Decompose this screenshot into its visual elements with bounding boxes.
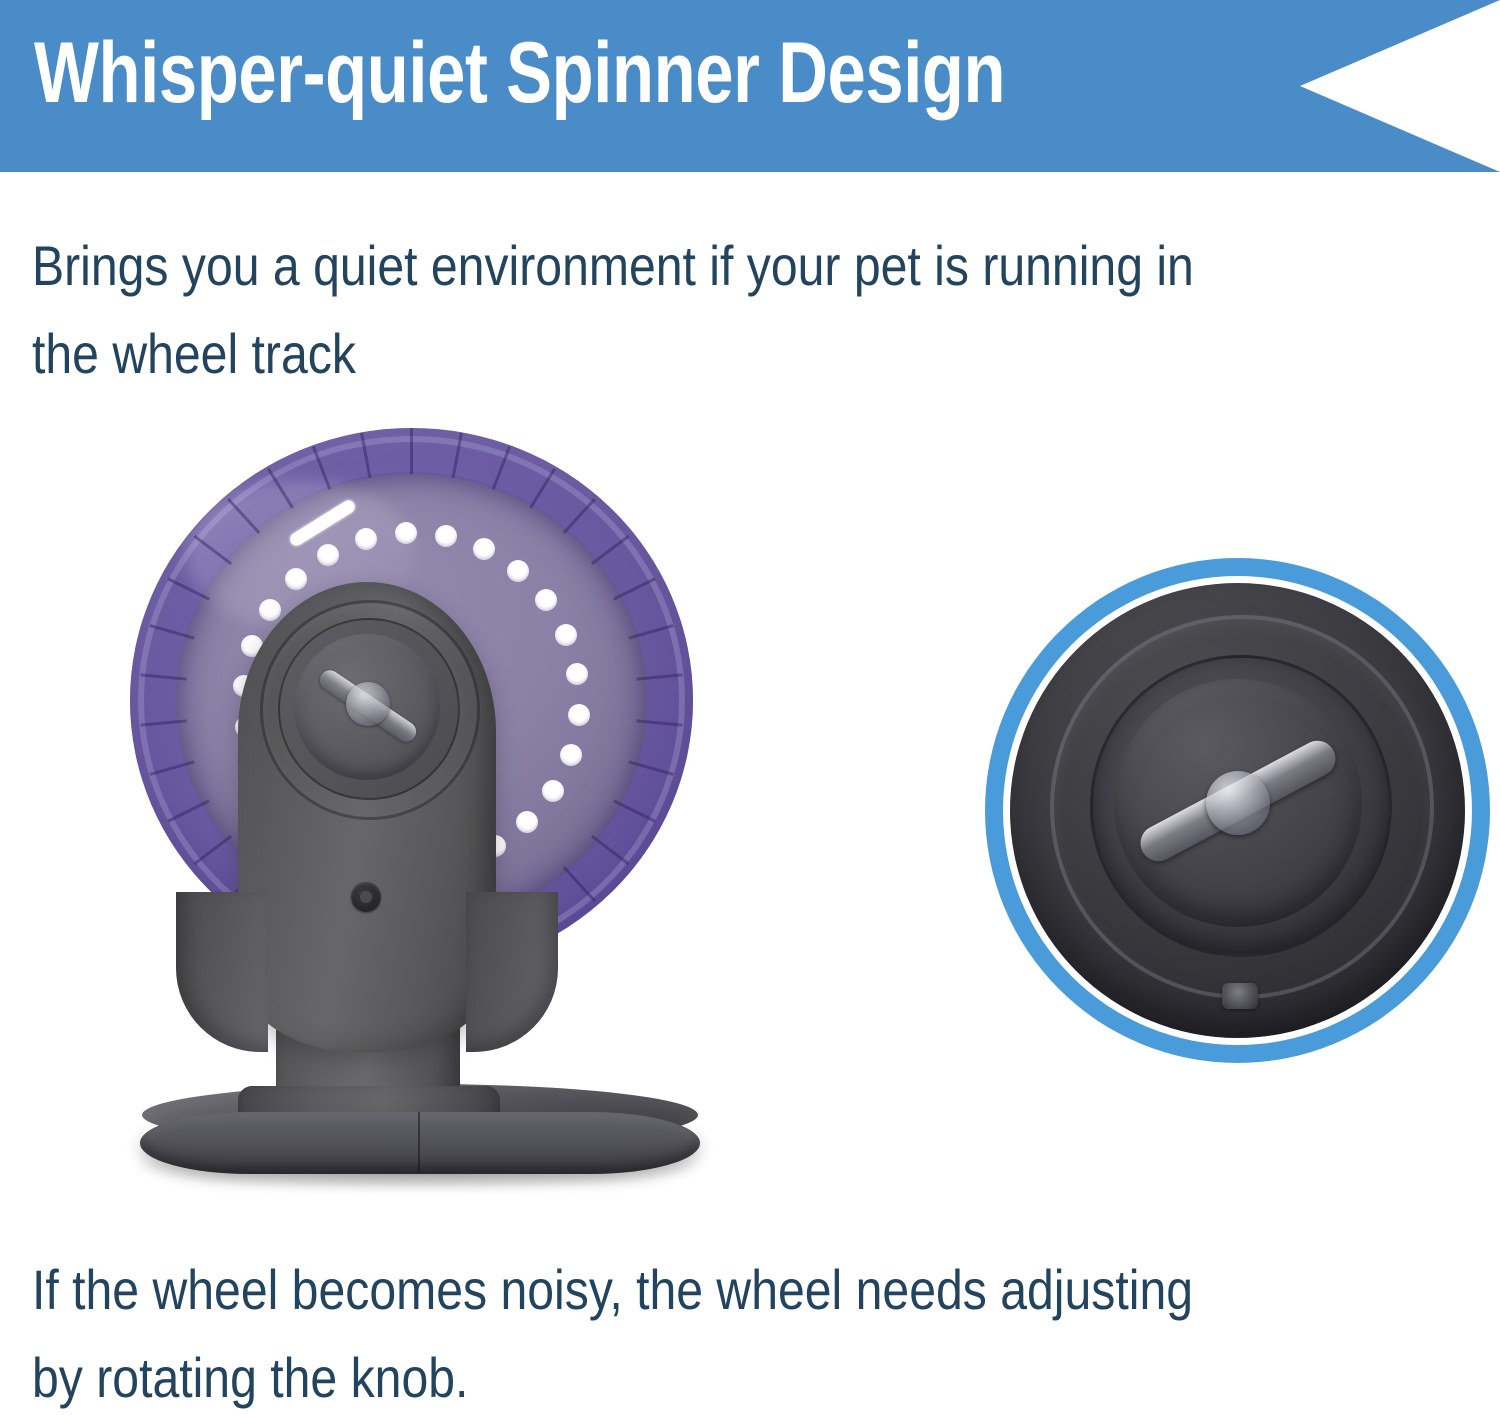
wheel-vent-hole xyxy=(435,525,457,547)
knob-closeup-callout xyxy=(985,558,1490,1063)
wheel-vent-hole xyxy=(395,522,417,544)
wheel-vent-hole xyxy=(542,780,564,802)
callout-inner-disc xyxy=(1003,576,1472,1045)
mount-screw xyxy=(351,882,381,912)
callout-screw xyxy=(1222,983,1258,1009)
mount-flare-right xyxy=(466,892,558,1052)
wheel-vent-slot-right xyxy=(658,495,727,547)
wheel-vent-hole xyxy=(285,568,307,590)
base-platform xyxy=(140,1112,700,1174)
wheel-mount xyxy=(238,582,496,1052)
outro-paragraph: If the wheel becomes noisy, the wheel ne… xyxy=(32,1246,1485,1422)
callout-hub-plate xyxy=(1114,679,1362,927)
callout-hub-body xyxy=(1010,583,1465,1038)
hub-plate xyxy=(294,634,440,780)
callout-knob-center[interactable] xyxy=(1206,771,1270,835)
page-title: Whisper-quiet Spinner Design xyxy=(34,18,1005,128)
wheel-rim-segment xyxy=(410,428,413,474)
wheel-vent-hole xyxy=(568,704,590,726)
adjusting-knob-center[interactable] xyxy=(346,682,390,726)
mount-flare-left xyxy=(176,892,268,1052)
wheel-vent-hole xyxy=(317,544,339,566)
intro-paragraph: Brings you a quiet environment if your p… xyxy=(32,222,1485,398)
wheel-vent-hole xyxy=(259,599,281,621)
wheel-vent-hole xyxy=(355,528,377,550)
wheel-vent-hole xyxy=(560,744,582,766)
base-seam xyxy=(418,1112,420,1172)
